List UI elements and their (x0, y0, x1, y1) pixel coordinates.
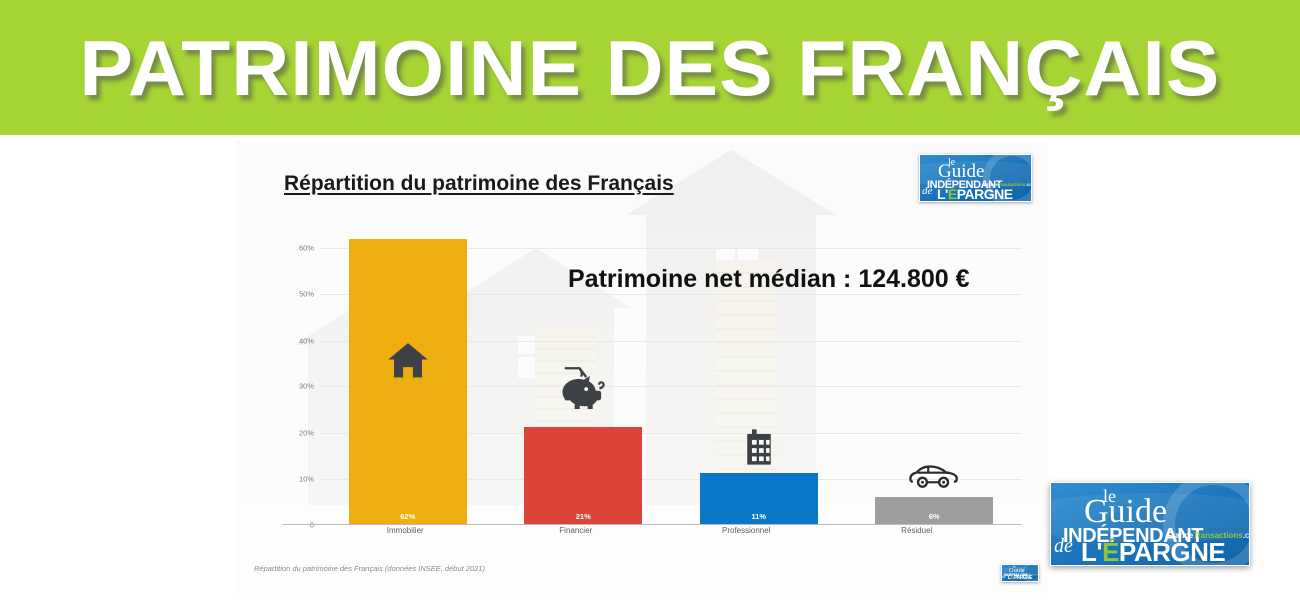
y-axis-label-10: 10% (282, 474, 314, 483)
bar-financier[interactable]: 21% (524, 427, 642, 524)
piggy-bank-icon (554, 361, 612, 419)
logo-text-website: FranceTransactions.com (984, 182, 1032, 187)
x-axis-labels: Immobilier Financier Professionnel Résid… (320, 526, 1002, 542)
chart-footnote: Répartition du patrimoine des Français (… (254, 564, 485, 573)
logo-text-website: FranceTransactions.com (1024, 574, 1039, 576)
bar-immobilier[interactable]: 62% (349, 239, 467, 524)
y-axis-label-60: 60% (282, 244, 314, 253)
y-axis-label-40: 40% (282, 336, 314, 345)
bar-cell-professionnel: 11% (671, 225, 847, 524)
bar-value-immobilier: 62% (400, 512, 415, 521)
logo-text-epargne: L'ÉPARGNE (1081, 537, 1225, 566)
brand-logo-main[interactable]: le Guide INDÉPENDANT de L'ÉPARGNE France… (1050, 482, 1250, 566)
chart-panel: Répartition du patrimoine des Français P… (236, 140, 1048, 593)
brand-logo-footnote[interactable]: le Guide INDÉPENDANT de L'ÉPARGNE France… (1001, 564, 1039, 582)
x-axis-label-financier: Financier (491, 526, 662, 542)
logo-text-website: FranceTransactions.com (1167, 531, 1250, 540)
logo-text-epargne: L'ÉPARGNE (937, 186, 1013, 202)
brand-logo-header[interactable]: le Guide INDÉPENDANT de L'ÉPARGNE France… (919, 154, 1032, 202)
bar-series: 62% 21% (320, 225, 1022, 524)
x-axis-label-residuel: Résiduel (832, 526, 1003, 542)
bar-professionnel[interactable]: 11% (700, 473, 818, 524)
bar-cell-residuel: 6% (847, 225, 1023, 524)
y-axis-label-20: 20% (282, 428, 314, 437)
y-axis-label-50: 50% (282, 290, 314, 299)
logo-text-de: de (1002, 575, 1006, 579)
page-title: PATRIMOINE DES FRANÇAIS (79, 29, 1220, 107)
y-axis-label-0: 0 (282, 521, 314, 530)
bar-value-financier: 21% (576, 512, 591, 521)
bar-value-residuel: 6% (929, 512, 940, 521)
x-axis-label-professionnel: Professionnel (661, 526, 832, 542)
y-axis-label-30: 30% (282, 382, 314, 391)
bar-cell-immobilier: 62% (320, 225, 496, 524)
chart-title: Répartition du patrimoine des Français (284, 172, 674, 196)
x-axis-label-immobilier: Immobilier (320, 526, 491, 542)
bar-residuel[interactable]: 6% (875, 497, 993, 525)
page-banner: PATRIMOINE DES FRANÇAIS (0, 0, 1300, 135)
office-building-icon (740, 427, 778, 467)
plot-area: 60% 50% 40% 30% 20% 10% 0 62% (282, 225, 1022, 525)
logo-text-de: de (1054, 535, 1073, 558)
bar-value-professionnel: 11% (751, 512, 766, 521)
x-axis-line (282, 524, 1022, 525)
house-icon (386, 341, 430, 381)
bar-cell-financier: 21% (496, 225, 672, 524)
car-icon (909, 461, 959, 491)
logo-text-de: de (922, 185, 932, 197)
